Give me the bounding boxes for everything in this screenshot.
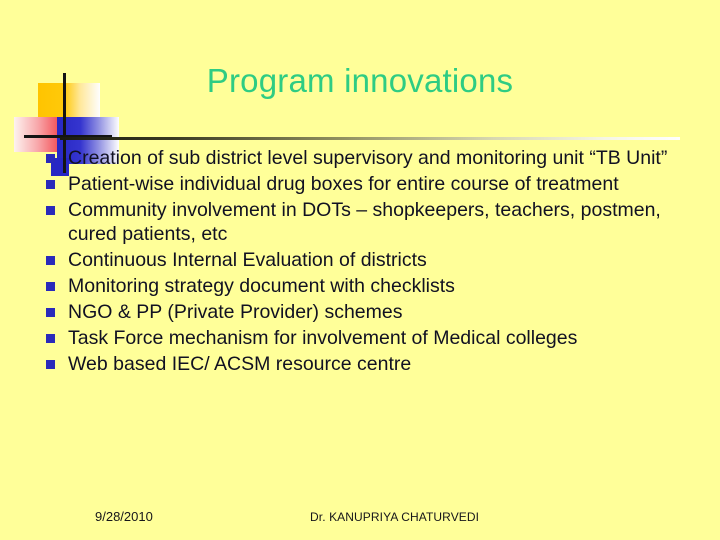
- list-item-label: Continuous Internal Evaluation of distri…: [68, 248, 700, 272]
- list-item: Community involvement in DOTs – shopkeep…: [40, 198, 700, 246]
- list-item-label: NGO & PP (Private Provider) schemes: [68, 300, 700, 324]
- bullet-square-icon: [46, 206, 55, 215]
- list-item: Continuous Internal Evaluation of distri…: [40, 248, 700, 272]
- list-item-label: Task Force mechanism for involvement of …: [68, 326, 700, 350]
- bullet-square-icon: [46, 334, 55, 343]
- list-item: Monitoring strategy document with checkl…: [40, 274, 700, 298]
- slide-title: Program innovations: [0, 62, 720, 100]
- list-item-label: Patient-wise individual drug boxes for e…: [68, 172, 700, 196]
- list-item: NGO & PP (Private Provider) schemes: [40, 300, 700, 324]
- slide-canvas: Program innovations Creation of sub dist…: [0, 0, 720, 540]
- footer-author: Dr. KANUPRIYA CHATURVEDI: [310, 510, 479, 524]
- list-item: Task Force mechanism for involvement of …: [40, 326, 700, 350]
- list-item: Patient-wise individual drug boxes for e…: [40, 172, 700, 196]
- list-item: Web based IEC/ ACSM resource centre: [40, 352, 700, 376]
- footer-date: 9/28/2010: [95, 509, 153, 524]
- bullet-square-icon: [46, 360, 55, 369]
- list-item: Creation of sub district level superviso…: [40, 146, 700, 170]
- bullet-square-icon: [46, 256, 55, 265]
- bullet-square-icon: [46, 282, 55, 291]
- bullet-square-icon: [46, 154, 55, 163]
- list-item-label: Community involvement in DOTs – shopkeep…: [68, 198, 700, 246]
- bullet-square-icon: [46, 180, 55, 189]
- bullet-square-icon: [46, 308, 55, 317]
- title-divider-rule: [60, 137, 680, 140]
- list-item-label: Monitoring strategy document with checkl…: [68, 274, 700, 298]
- bullet-list: Creation of sub district level superviso…: [40, 146, 700, 378]
- list-item-label: Creation of sub district level superviso…: [68, 146, 700, 170]
- list-item-label: Web based IEC/ ACSM resource centre: [68, 352, 700, 376]
